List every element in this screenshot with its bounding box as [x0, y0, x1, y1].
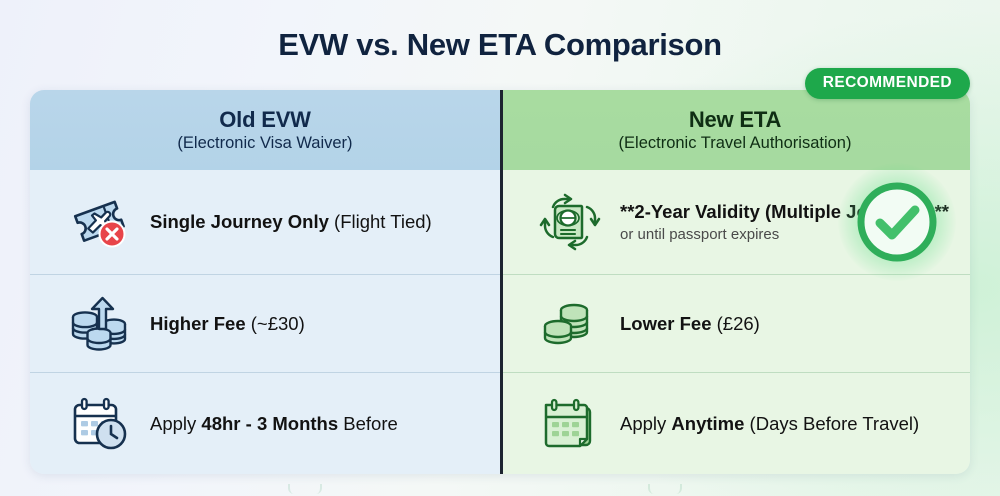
column-new-eta: New ETA (Electronic Travel Authorisation…: [500, 90, 970, 474]
row-timing-old-rest: Before: [338, 413, 398, 434]
comparison-table: Old EVW (Electronic Visa Waiver): [30, 90, 970, 474]
passport-globe-cycle-icon: [534, 191, 606, 253]
row-fee-old-text: Higher Fee (~£30): [150, 312, 305, 336]
column-header-old-evw: Old EVW (Electronic Visa Waiver): [30, 90, 500, 170]
row-timing-old-prefix: Apply: [150, 413, 201, 434]
column-divider: [500, 90, 503, 474]
comparison-card: RECOMMENDED Old EVW (Electronic Visa Wai…: [30, 90, 970, 474]
old-evw-title: Old EVW: [219, 107, 311, 133]
row-timing-old: Apply 48hr - 3 Months Before: [30, 372, 500, 474]
calendar-green-icon: [534, 396, 606, 452]
row-journey-old-text: Single Journey Only (Flight Tied): [150, 210, 432, 234]
cropped-bottom-content: [0, 484, 1000, 496]
coins-stack-icon: [534, 298, 606, 350]
row-timing-new-prefix: Apply: [620, 413, 671, 434]
cropped-shape-left: [288, 484, 322, 494]
row-timing-new: Apply Anytime (Days Before Travel): [500, 372, 970, 474]
row-fee-new-text: Lower Fee (£26): [620, 312, 760, 336]
row-fee-old-rest: (~£30): [246, 313, 305, 334]
row-journey-old-bold: Single Journey Only: [150, 211, 329, 232]
row-journey-old-rest: (Flight Tied): [329, 211, 432, 232]
cropped-shape-right: [648, 484, 682, 494]
row-timing-new-bold: Anytime: [671, 413, 744, 434]
column-old-evw: Old EVW (Electronic Visa Waiver): [30, 90, 500, 474]
row-fee-old-bold: Higher Fee: [150, 313, 246, 334]
calendar-clock-icon: [64, 396, 136, 452]
ticket-cross-icon: [64, 194, 136, 250]
new-eta-subtitle: (Electronic Travel Authorisation): [619, 134, 852, 153]
old-evw-subtitle: (Electronic Visa Waiver): [177, 134, 352, 153]
row-fee-new-rest: (£26): [712, 313, 760, 334]
row-fee-new-bold: Lower Fee: [620, 313, 712, 334]
column-header-new-eta: New ETA (Electronic Travel Authorisation…: [500, 90, 970, 170]
coins-up-arrow-icon: [64, 295, 136, 353]
new-eta-title: New ETA: [689, 107, 781, 133]
row-timing-old-bold: 48hr - 3 Months: [201, 413, 338, 434]
page-title: EVW vs. New ETA Comparison: [0, 0, 1000, 68]
row-timing-old-text: Apply 48hr - 3 Months Before: [150, 412, 398, 436]
recommended-badge: RECOMMENDED: [805, 68, 970, 99]
row-timing-new-rest: (Days Before Travel): [744, 413, 919, 434]
row-journey-old: Single Journey Only (Flight Tied): [30, 170, 500, 274]
row-fee-new: Lower Fee (£26): [500, 274, 970, 372]
row-timing-new-text: Apply Anytime (Days Before Travel): [620, 412, 919, 436]
row-fee-old: Higher Fee (~£30): [30, 274, 500, 372]
green-check-circle-icon: [854, 179, 940, 265]
row-journey-new: **2-Year Validity (Multiple Journeys)** …: [500, 170, 970, 274]
